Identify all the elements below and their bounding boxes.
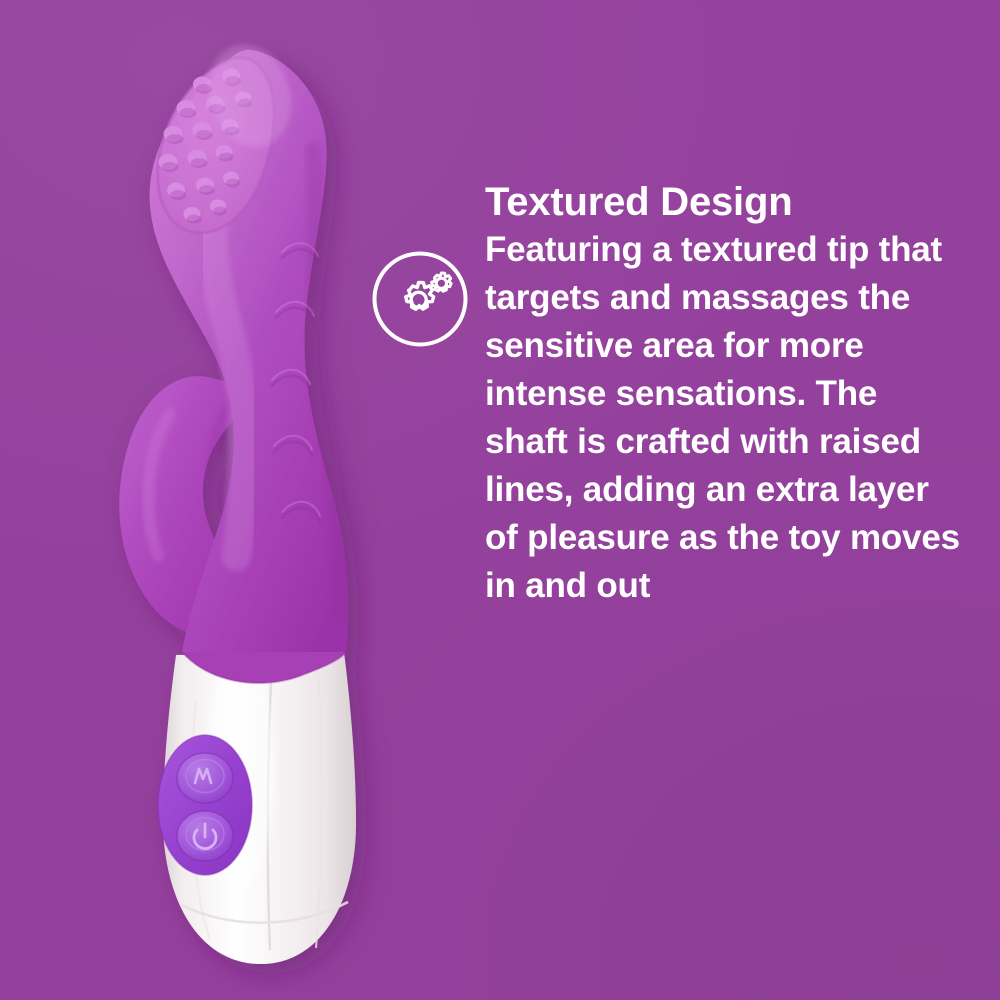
power-button[interactable] <box>177 811 233 861</box>
gears-in-circle-icon <box>372 251 468 347</box>
product-image <box>0 0 420 1000</box>
small-gear-icon <box>432 273 451 291</box>
feature-copy: Textured Design Featuring a textured tip… <box>485 180 963 610</box>
product-control-pad <box>158 735 252 875</box>
feature-heading: Textured Design <box>485 180 963 224</box>
product-feature-card: Textured Design Featuring a textured tip… <box>0 0 1000 1000</box>
large-gear-icon <box>406 283 434 310</box>
feature-body-text: Featuring a textured tip that targets an… <box>485 226 963 610</box>
mode-button[interactable] <box>177 753 233 803</box>
